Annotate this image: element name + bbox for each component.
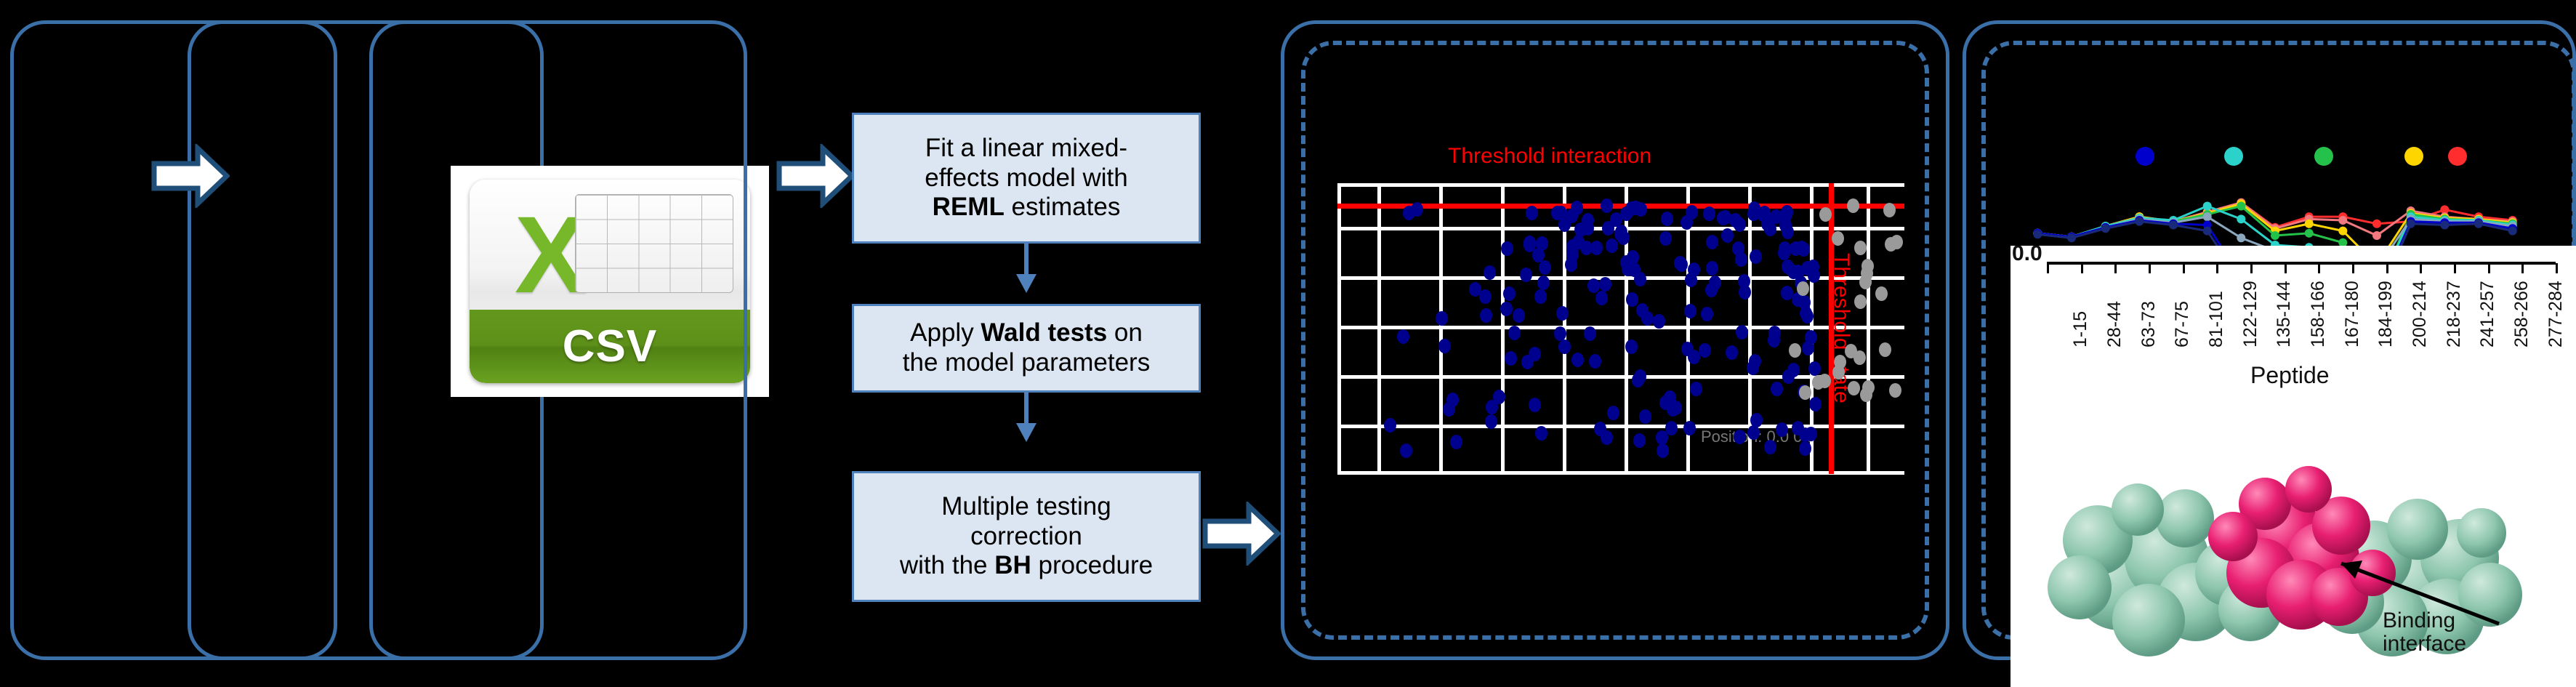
peptide-x-tick xyxy=(2149,263,2151,273)
scatter-point-significant xyxy=(1486,400,1498,414)
wald-line-1-post: on xyxy=(1107,318,1143,347)
bh-bold: BH xyxy=(994,551,1031,579)
protein-structure-image xyxy=(2011,402,2576,686)
scatter-point-significant xyxy=(1634,272,1646,286)
peptide-legend-dot xyxy=(2314,147,2333,166)
scatter-point-significant xyxy=(1625,340,1638,354)
bh-line-3-pre: with the xyxy=(900,551,994,579)
bh-line-1: Multiple testing xyxy=(941,492,1111,521)
peptide-x-tick-label: 158-166 xyxy=(2308,281,2329,347)
scatter-point-significant xyxy=(1582,213,1594,228)
scatter-point-significant xyxy=(1610,212,1622,227)
gridline-h xyxy=(1337,326,1904,329)
gridline-h xyxy=(1337,471,1904,475)
wald-line-1-pre: Apply xyxy=(910,318,981,347)
scatter-point-significant xyxy=(1539,260,1551,275)
scatter-point-significant xyxy=(1384,418,1396,433)
scatter-point-significant xyxy=(1556,306,1569,321)
scatter-point-significant xyxy=(1636,303,1649,318)
scatter-plot-figure: Threshold interaction xyxy=(1337,138,1904,545)
peptide-marker xyxy=(2237,233,2245,242)
scatter-point-significant xyxy=(1505,351,1517,366)
peptide-marker xyxy=(2067,233,2076,242)
wald-bold: Wald tests xyxy=(981,318,1107,347)
peptide-x-tick-label: 63-73 xyxy=(2138,301,2160,347)
peptide-structure-card: 0.0 1-1528-4463-7367-7581-101122-129135-… xyxy=(2011,246,2576,687)
peptide-marker xyxy=(2338,216,2347,225)
scatter-point-nonsignificant xyxy=(1819,207,1832,222)
scatter-point-nonsignificant xyxy=(1797,281,1809,296)
peptide-marker xyxy=(2305,220,2314,228)
binding-interface-annotation: Binding interface xyxy=(2383,609,2466,656)
scatter-point-significant xyxy=(1606,238,1618,253)
scatter-point-significant xyxy=(1607,406,1619,420)
peptide-x-tick-label: 67-75 xyxy=(2172,301,2193,347)
gridline-v xyxy=(1337,183,1341,474)
scatter-point-nonsignificant xyxy=(1854,294,1867,309)
peptide-x-tick xyxy=(2386,263,2388,273)
peptide-legend-dot xyxy=(2224,147,2243,166)
peptide-marker xyxy=(2237,202,2245,211)
scatter-point-significant xyxy=(1659,231,1672,246)
gridline-v xyxy=(1867,183,1870,474)
peptide-x-tick xyxy=(2318,263,2320,273)
scatter-point-significant xyxy=(1601,430,1613,445)
scatter-point-significant xyxy=(1768,326,1781,340)
scatter-point-significant xyxy=(1721,228,1734,243)
stage-panel-statistics xyxy=(369,20,747,660)
scatter-point-significant xyxy=(1781,286,1793,300)
scatter-point-nonsignificant xyxy=(1799,385,1811,400)
scatter-point-significant xyxy=(1614,227,1627,241)
scatter-point-nonsignificant xyxy=(1848,381,1860,395)
peptide-x-tick xyxy=(2488,263,2490,273)
peptide-x-tick xyxy=(2352,263,2354,273)
peptide-x-tick-label: 28-44 xyxy=(2104,301,2125,347)
arrow-into-csv xyxy=(151,144,230,208)
scatter-point-significant xyxy=(1480,308,1492,323)
arrow-model-to-wald xyxy=(1014,242,1039,294)
process-box-bh-correction-text: Multiple testing correction with the BH … xyxy=(900,492,1153,581)
scatter-point-significant xyxy=(1736,325,1748,340)
scatter-point-significant xyxy=(1469,282,1481,297)
scatter-point-significant xyxy=(1595,291,1608,305)
scatter-point-nonsignificant xyxy=(1891,235,1903,249)
scatter-point-significant xyxy=(1701,307,1713,321)
peptide-x-tick-label: 200-214 xyxy=(2410,281,2431,347)
scatter-point-significant xyxy=(1535,426,1547,441)
scatter-point-significant xyxy=(1485,414,1497,429)
scatter-point-nonsignificant xyxy=(1812,375,1824,390)
scatter-point-significant xyxy=(1732,241,1744,256)
scatter-point-significant xyxy=(1584,326,1596,341)
peptide-marker xyxy=(2372,220,2381,228)
scatter-point-significant xyxy=(1674,256,1686,270)
peptide-legend-dot xyxy=(2136,147,2154,166)
scatter-point-significant xyxy=(1532,248,1545,262)
peptide-x-tick xyxy=(2216,263,2218,273)
peptide-x-tick xyxy=(2250,263,2253,273)
peptide-legend-dot xyxy=(2448,147,2467,166)
peptide-marker xyxy=(2203,202,2212,211)
peptide-marker xyxy=(2169,221,2178,230)
gridline-v xyxy=(1377,183,1381,474)
scatter-point-significant xyxy=(1632,373,1644,387)
peptide-marker xyxy=(2508,227,2517,236)
scatter-point-significant xyxy=(1500,302,1513,316)
scatter-point-nonsignificant xyxy=(1883,203,1896,217)
arrow-csv-to-model xyxy=(776,144,855,208)
fit-model-line-3-rest: estimates xyxy=(1005,193,1121,221)
peptide-x-tick xyxy=(2114,263,2117,273)
peptide-marker xyxy=(2237,214,2245,223)
scatter-point-significant xyxy=(1526,206,1538,220)
scatter-point-nonsignificant xyxy=(1854,241,1867,255)
peptide-marker xyxy=(2203,227,2212,236)
scatter-point-significant xyxy=(1403,206,1415,220)
peptide-legend-dot xyxy=(2404,147,2423,166)
scatter-point-significant xyxy=(1534,289,1547,304)
peptide-marker xyxy=(2407,220,2415,228)
peptide-marker xyxy=(2203,212,2212,221)
scatter-point-significant xyxy=(1750,249,1762,264)
peptide-x-tick-label: 167-180 xyxy=(2342,281,2363,347)
scatter-point-significant xyxy=(1656,430,1668,445)
bh-line-2: correction xyxy=(970,522,1082,550)
process-box-bh-correction[interactable]: Multiple testing correction with the BH … xyxy=(852,471,1201,602)
peptide-x-tick xyxy=(2047,263,2049,273)
scatter-point-significant xyxy=(1747,425,1760,440)
peptide-x-tick xyxy=(2454,263,2456,273)
scatter-point-nonsignificant xyxy=(1832,365,1845,379)
scatter-point-significant xyxy=(1513,308,1525,323)
peptide-x-axis xyxy=(2047,262,2556,265)
peptide-x-tick xyxy=(2285,263,2287,273)
peptide-x-tick xyxy=(2556,263,2558,273)
scatter-point-significant xyxy=(1809,397,1822,411)
scatter-point-significant xyxy=(1799,427,1811,442)
scatter-point-significant xyxy=(1771,382,1783,396)
scatter-point-significant xyxy=(1709,276,1721,290)
scatter-point-nonsignificant xyxy=(1847,198,1859,213)
process-box-fit-model-text: Fit a linear mixed- effects model with R… xyxy=(925,134,1128,222)
threshold-state-label: Threshold state xyxy=(1829,253,1853,403)
peptide-marker xyxy=(2305,229,2314,238)
peptide-x-tick xyxy=(2081,263,2083,273)
scatter-point-significant xyxy=(1633,433,1646,448)
peptide-x-tick-label: 277-284 xyxy=(2545,281,2567,347)
peptide-marker xyxy=(2033,230,2042,238)
scatter-point-significant xyxy=(1749,354,1761,369)
peptide-x-tick-label: 1-15 xyxy=(2070,311,2091,347)
scatter-point-significant xyxy=(1589,354,1601,369)
fit-model-line-2: effects model with xyxy=(925,164,1128,192)
peptide-x-tick-label: 135-144 xyxy=(2274,281,2295,347)
peptide-x-tick-label: 184-199 xyxy=(2375,281,2396,347)
gridline-v xyxy=(1439,183,1443,474)
process-box-wald-tests[interactable]: Apply Wald tests on the model parameters xyxy=(852,304,1201,393)
scatter-point-significant xyxy=(1798,242,1810,257)
scatter-point-significant xyxy=(1554,326,1566,341)
scatter-plot-area: Threshold state Position: 0.0 0.5 xyxy=(1337,183,1904,474)
peptide-y-tick-label: 0.0 xyxy=(2012,246,2042,266)
process-box-fit-model[interactable]: Fit a linear mixed- effects model with R… xyxy=(852,113,1201,244)
scatter-point-significant xyxy=(1484,265,1496,280)
scatter-point-significant xyxy=(1739,285,1751,300)
scatter-point-significant xyxy=(1776,422,1788,437)
gridline-h xyxy=(1337,425,1904,428)
peptide-marker xyxy=(2338,227,2347,236)
peptide-x-tick-label: 258-266 xyxy=(2511,281,2532,347)
threshold-interaction-label: Threshold interaction xyxy=(1448,144,1651,169)
scatter-point-significant xyxy=(1703,206,1715,221)
scatter-point-significant xyxy=(1729,213,1742,228)
scatter-point-significant xyxy=(1529,398,1541,412)
scatter-point-significant xyxy=(1801,309,1814,324)
wald-line-2: the model parameters xyxy=(903,348,1150,377)
diagram-canvas: X CSV Fit a linear mixed- effects model … xyxy=(0,0,2576,687)
scatter-point-nonsignificant xyxy=(1879,342,1891,357)
peptide-x-tick xyxy=(2183,263,2185,273)
peptide-x-tick-label: 81-101 xyxy=(2206,291,2227,347)
peptide-x-tick-label: 218-237 xyxy=(2444,281,2465,347)
peptide-x-tick-label: 241-257 xyxy=(2477,281,2498,347)
arrow-bh-to-results xyxy=(1202,502,1281,566)
scatter-point-significant xyxy=(1799,441,1811,456)
scatter-point-nonsignificant xyxy=(1832,231,1844,246)
peptide-x-tick xyxy=(2420,263,2422,273)
peptide-x-tick xyxy=(2521,263,2524,273)
process-box-wald-tests-text: Apply Wald tests on the model parameters xyxy=(903,318,1150,377)
peptide-marker xyxy=(2135,217,2144,226)
scatter-point-significant xyxy=(1780,207,1792,222)
bh-line-3-post: procedure xyxy=(1031,551,1153,579)
peptide-axis-title: Peptide xyxy=(2250,362,2330,389)
gridline-h xyxy=(1337,183,1904,187)
peptide-marker xyxy=(2474,220,2483,228)
arrow-wald-to-bh xyxy=(1014,391,1039,443)
gridline-v xyxy=(1501,183,1505,474)
peptide-x-tick-label: 122-129 xyxy=(2240,281,2261,347)
fit-model-bold-reml: REML xyxy=(933,193,1005,221)
peptide-marker xyxy=(2271,231,2279,240)
scatter-point-significant xyxy=(1520,268,1532,282)
fit-model-line-1: Fit a linear mixed- xyxy=(925,134,1127,162)
peptide-marker xyxy=(2101,224,2110,233)
scatter-point-significant xyxy=(1635,202,1647,217)
scatter-point-significant xyxy=(1681,342,1694,356)
peptide-marker xyxy=(2372,231,2381,240)
scatter-point-nonsignificant xyxy=(1875,286,1888,301)
peptide-marker xyxy=(2440,221,2449,230)
